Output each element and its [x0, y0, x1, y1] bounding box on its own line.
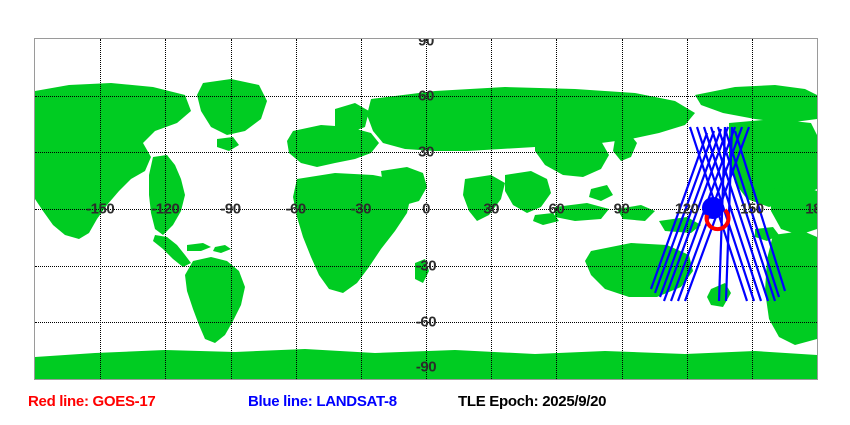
- legend-red-line: Red line: GOES-17: [28, 393, 155, 410]
- satellite-tracking-map: -300306090120150180-150-120-90-60906030-…: [0, 0, 850, 425]
- lat-tick-label: 90: [418, 39, 434, 50]
- lon-tick-label: 180: [805, 201, 817, 218]
- lon-tick-label: 0: [422, 201, 430, 218]
- legend-tle-epoch: TLE Epoch: 2025/9/20: [458, 393, 606, 410]
- lat-tick-label: -60: [416, 314, 436, 331]
- lat-tick-label: 30: [418, 144, 434, 161]
- lat-tick-label: -90: [416, 359, 436, 376]
- lon-tick-label: -60: [286, 201, 306, 218]
- world-map[interactable]: -300306090120150180-150-120-90-60906030-…: [34, 38, 818, 380]
- lon-tick-label: -150: [86, 201, 114, 218]
- lon-tick-label: 120: [675, 201, 699, 218]
- landsat-track-bundle-b: [651, 127, 749, 301]
- lat-tick-label: 60: [418, 87, 434, 104]
- lat-tick-label: -30: [416, 257, 436, 274]
- legend: Red line: GOES-17 Blue line: LANDSAT-8 T…: [0, 393, 850, 421]
- legend-blue-line: Blue line: LANDSAT-8: [248, 393, 397, 410]
- lon-tick-label: -30: [351, 201, 371, 218]
- map-canvas: -300306090120150180-150-120-90-60906030-…: [35, 39, 817, 379]
- lon-tick-label: 30: [483, 201, 499, 218]
- lon-tick-label: 150: [740, 201, 764, 218]
- lon-tick-label: -120: [151, 201, 179, 218]
- lon-tick-label: 60: [548, 201, 564, 218]
- lon-tick-label: 90: [614, 201, 630, 218]
- lon-tick-label: -90: [220, 201, 240, 218]
